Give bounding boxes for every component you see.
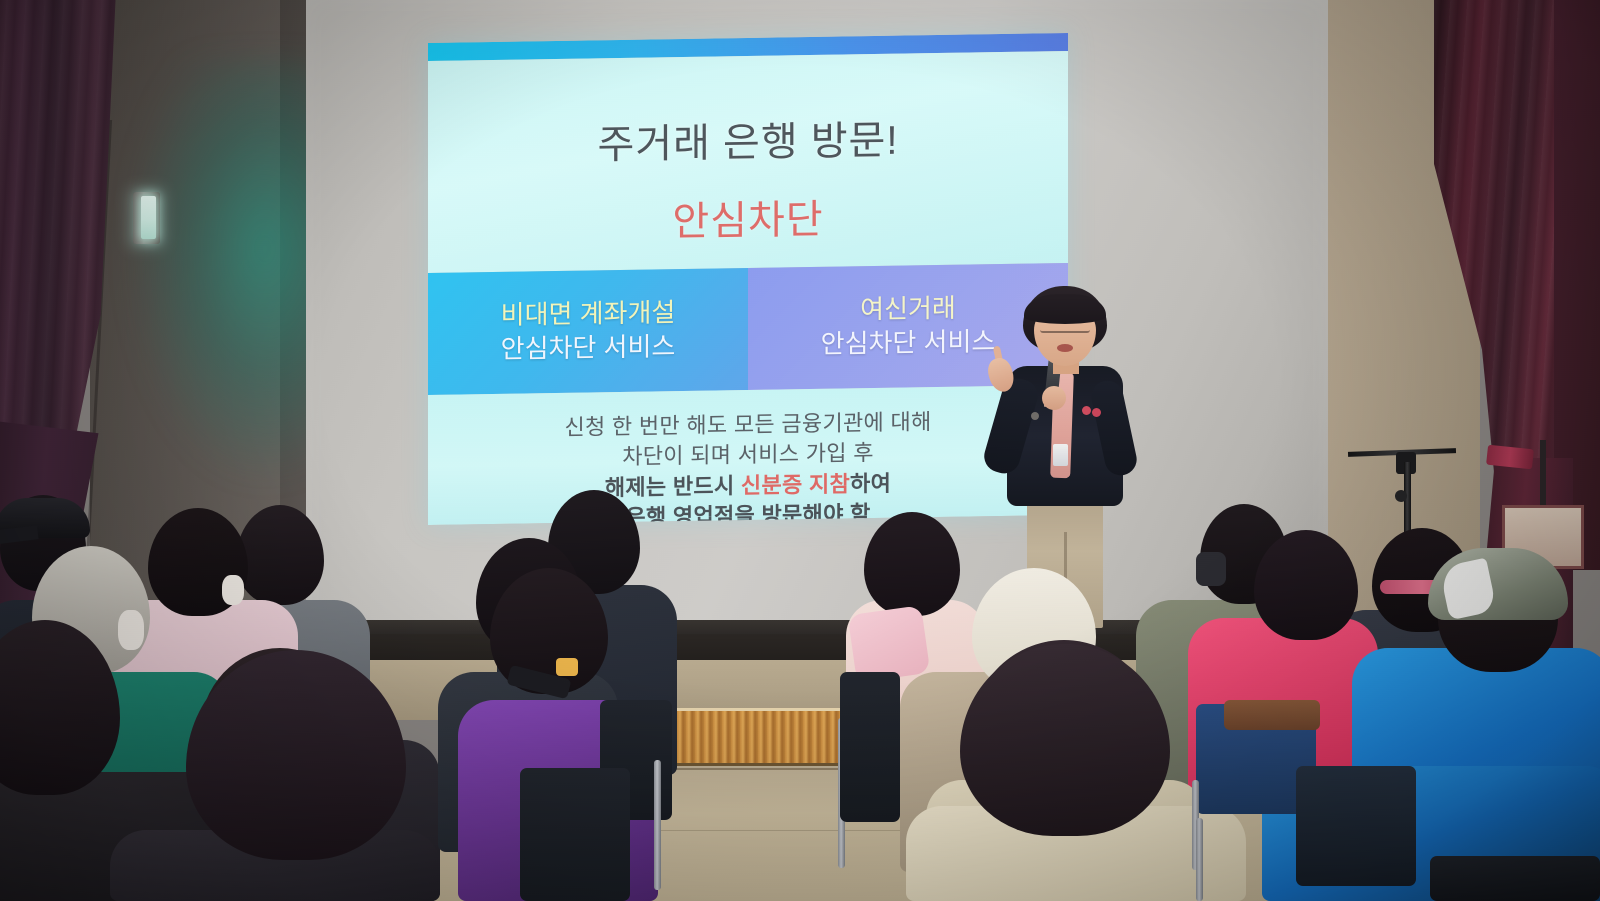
slide-title: 주거래 은행 방문! xyxy=(428,105,1068,173)
audience-3-face-mask-icon xyxy=(222,575,244,605)
lamp-glass xyxy=(141,196,156,239)
presenter-name-badge xyxy=(1053,444,1068,466)
panel-right-line1: 여신거래 xyxy=(860,292,956,327)
chair-back-3 xyxy=(840,672,900,822)
emergency-light-icon xyxy=(133,192,160,244)
presenter-mouth xyxy=(1057,344,1073,352)
chair-leg-5 xyxy=(1196,818,1203,901)
secondary-mic-stand xyxy=(1540,440,1546,510)
floor-seam-lower xyxy=(650,830,920,831)
projected-slide: 주거래 은행 방문! 안심차단 비대면 계좌개설 안심차단 서비스 여신거래 안… xyxy=(428,33,1068,525)
panel-non-face-to-face-account: 비대면 계좌개설 안심차단 서비스 xyxy=(428,268,748,395)
line3-pre: 해제는 반드시 xyxy=(605,473,741,500)
microphone-stand-knob xyxy=(1395,490,1407,502)
presenter-pin-3 xyxy=(1031,412,1039,420)
panel-right-line2: 안심차단 서비스 xyxy=(821,325,996,362)
chair-back-2 xyxy=(520,768,630,901)
panel-left-line2: 안심차단 서비스 xyxy=(501,330,676,367)
audience-2-face-mask-icon xyxy=(118,610,144,650)
slide-service-panels: 비대면 계좌개설 안심차단 서비스 여신거래 안심차단 서비스 xyxy=(428,263,1068,395)
slide-body-text: 신청 한 번만 해도 모든 금융기관에 대해 차단이 되며 서비스 가입 후 해… xyxy=(428,385,1068,525)
line3-highlight: 신분증 지참 xyxy=(741,471,850,498)
audience-7-mask-strap xyxy=(556,658,578,676)
chair-leg-1 xyxy=(654,760,661,890)
audience-12-face-mask-icon xyxy=(1196,552,1226,586)
slide-subtitle: 안심차단 xyxy=(428,183,1068,251)
presenter-hand-holding-mic xyxy=(1042,386,1066,410)
chair-back-6 xyxy=(1430,856,1600,901)
chair-back-wood xyxy=(1224,700,1320,730)
presenter-pin-1 xyxy=(1082,406,1091,415)
presenter-pin-2 xyxy=(1092,408,1101,417)
panel-left-line1: 비대면 계좌개설 xyxy=(501,296,676,333)
presenter-hair-fringe xyxy=(1024,294,1106,324)
photo-scene: 주거래 은행 방문! 안심차단 비대면 계좌개설 안심차단 서비스 여신거래 안… xyxy=(0,0,1600,901)
chair-back-5 xyxy=(1296,766,1416,886)
line3-post: 하여 xyxy=(850,470,891,496)
curtain-tieback xyxy=(1486,445,1534,470)
presenter-glasses-icon xyxy=(1040,324,1090,333)
